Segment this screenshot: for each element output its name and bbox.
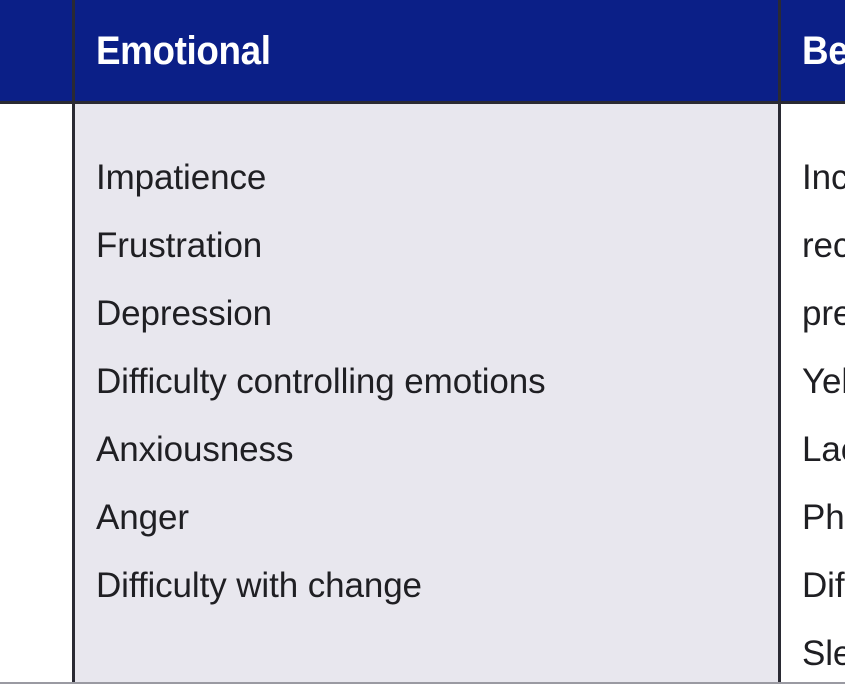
body-gutter-cell [0, 101, 72, 684]
list-item: Sle [802, 620, 845, 684]
list-item: Anxiousness [96, 416, 778, 484]
table-screenshot: Emotional Be Impatience Frustration Depr… [0, 0, 845, 684]
list-item: Difficulty controlling emotions [96, 348, 778, 416]
list-item: Frustration [96, 212, 778, 280]
list-item: Lac [802, 416, 845, 484]
column-header-emotional-label: Emotional [96, 31, 271, 71]
behavioral-symptom-list: Inc rec pre Yel Lac Ph Dif Sle [802, 144, 845, 684]
column-header-behavioral-label: Be [802, 31, 845, 71]
column-header-emotional: Emotional [72, 0, 778, 101]
list-item: Depression [96, 280, 778, 348]
list-item: Yel [802, 348, 845, 416]
column-header-behavioral: Be [778, 0, 845, 101]
emotional-symptom-list: Impatience Frustration Depression Diffic… [96, 144, 778, 620]
list-item: Dif [802, 552, 845, 620]
column-body-emotional: Impatience Frustration Depression Diffic… [72, 101, 778, 684]
list-item: Ph [802, 484, 845, 552]
list-item: Anger [96, 484, 778, 552]
list-item: Inc rec pre [802, 144, 845, 348]
symptom-category-table: Emotional Be Impatience Frustration Depr… [0, 0, 845, 684]
list-item: Difficulty with change [96, 552, 778, 620]
column-body-behavioral: Inc rec pre Yel Lac Ph Dif Sle [778, 101, 845, 684]
header-gutter-cell [0, 0, 72, 101]
list-item: Impatience [96, 144, 778, 212]
